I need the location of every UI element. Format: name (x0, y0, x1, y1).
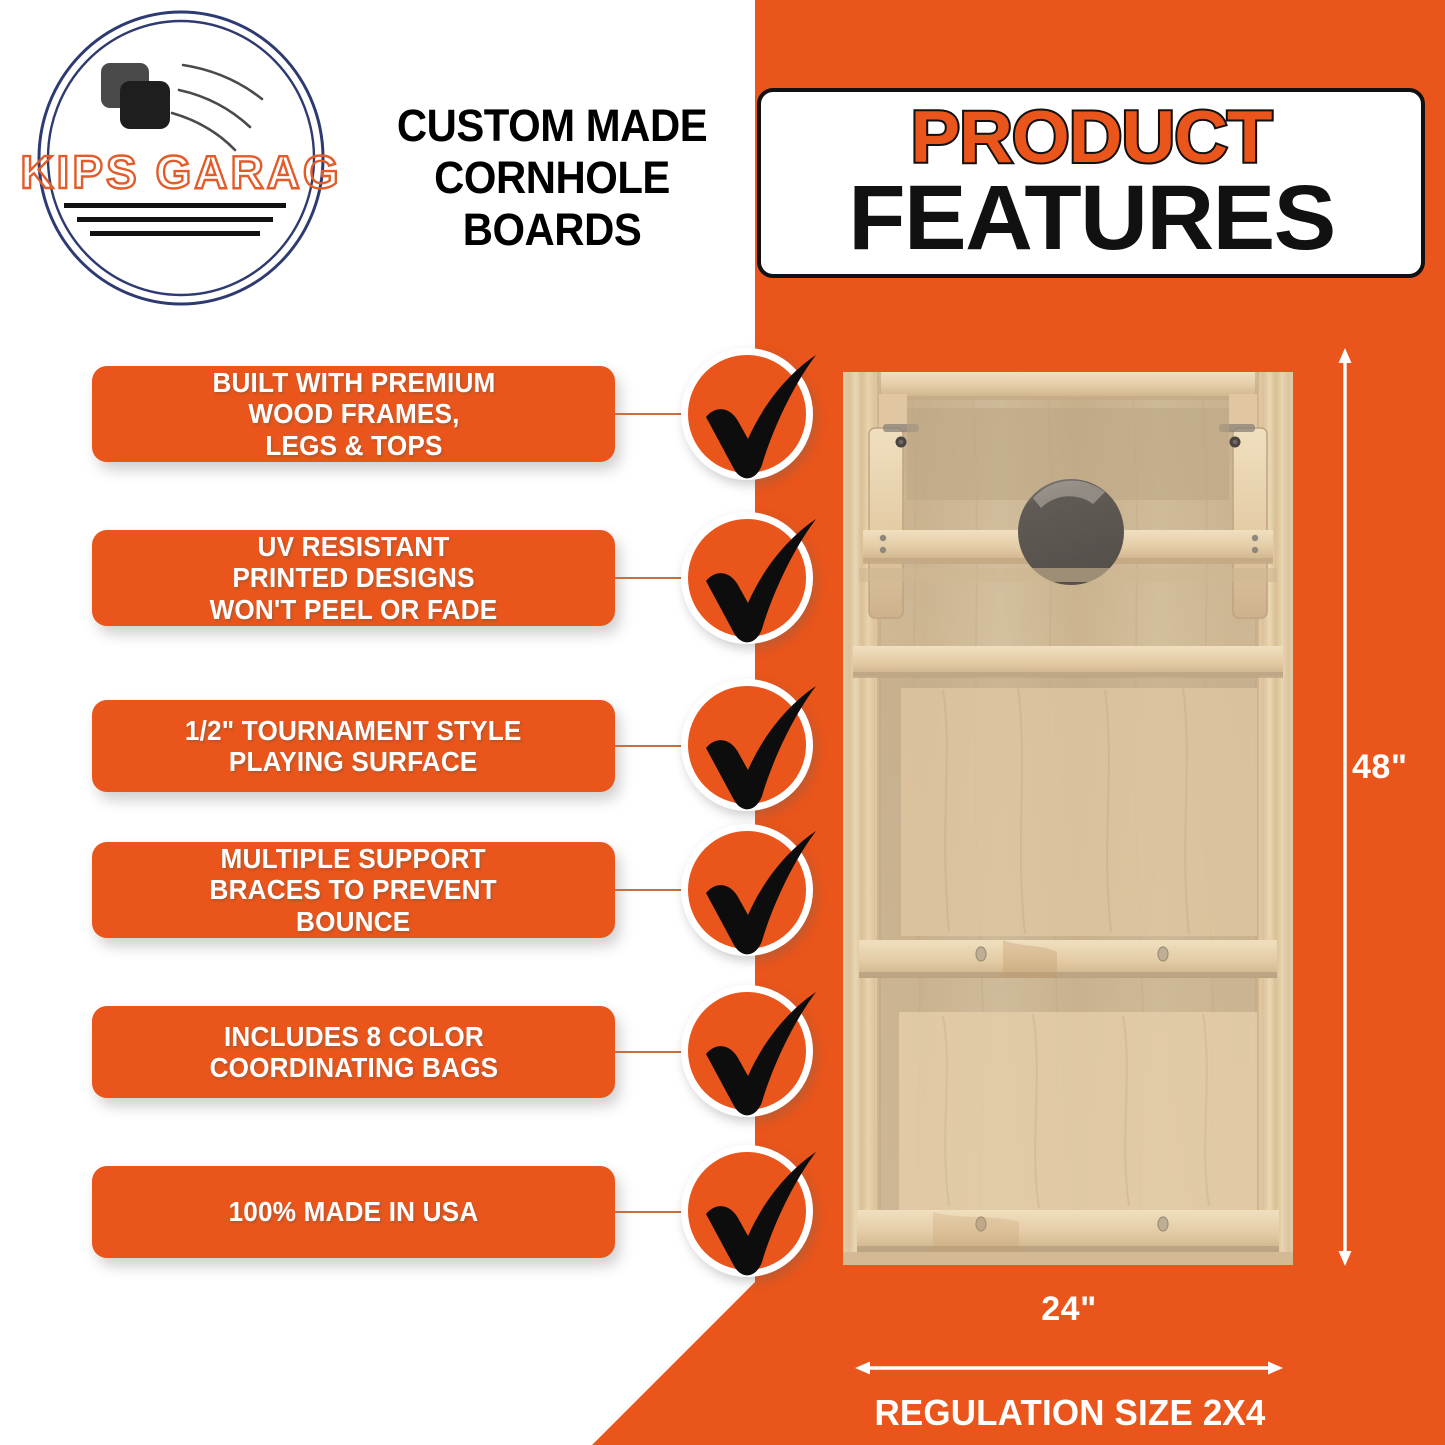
product-features-header: PRODUCT FEATURES (757, 88, 1425, 278)
width-dimension-label: 24" (855, 1290, 1283, 1329)
cornhole-board-photo (843, 372, 1293, 1265)
width-dimension-arrow (855, 1360, 1283, 1376)
infographic-page: SKIPS GARAGE CUSTOM MADE CORNHOLE BOARDS… (0, 0, 1445, 1445)
height-dimension-arrow (1337, 348, 1353, 1266)
right-column: PRODUCT FEATURES (0, 0, 1445, 1445)
header-word-features: FEATURES (848, 175, 1335, 262)
regulation-size-label: REGULATION SIZE 2X4 (828, 1392, 1313, 1434)
height-dimension-label: 48" (1352, 748, 1407, 787)
header-word-product: PRODUCT (910, 103, 1271, 173)
